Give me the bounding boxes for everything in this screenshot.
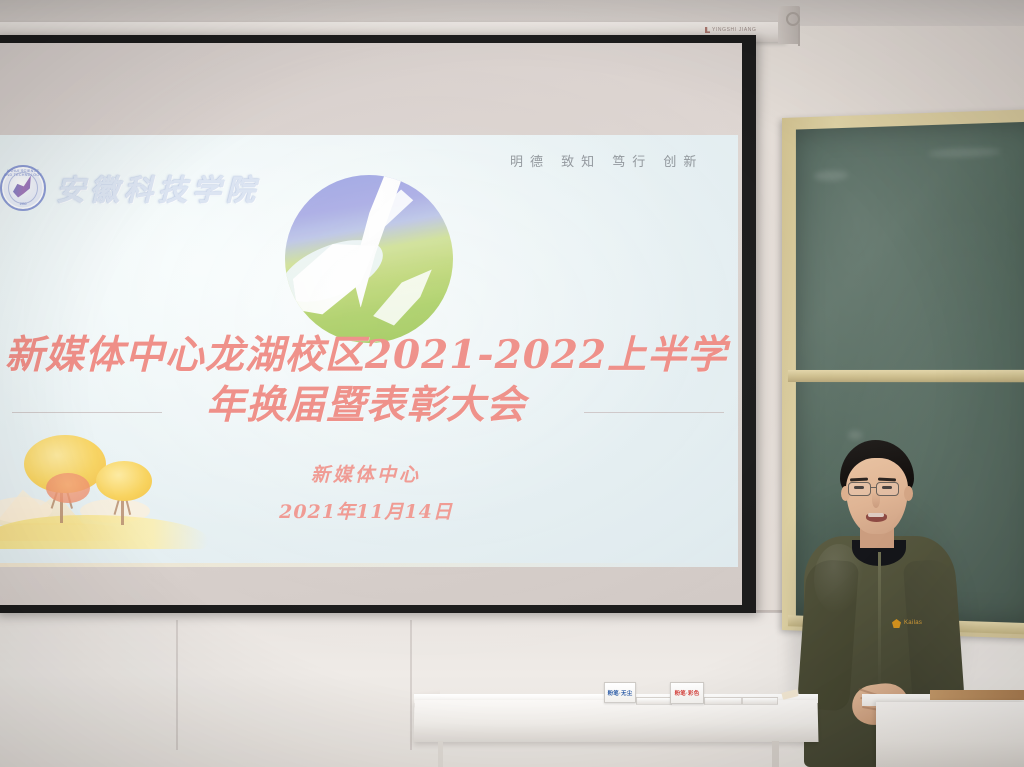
chalk-tray[interactable] bbox=[636, 697, 672, 705]
university-name: 安徽科技学院 bbox=[56, 167, 260, 209]
chalk-box-red[interactable]: 粉笔·彩色 bbox=[670, 682, 704, 704]
chalk-box-red-label: 粉笔·彩色 bbox=[675, 689, 700, 697]
screen-cord[interactable] bbox=[798, 24, 800, 46]
seal-arc-text: ANHUI SCIENCE AND TECHNOLOGY bbox=[2, 169, 44, 177]
housing-brand-label: YINGSHI JIANG bbox=[712, 27, 756, 33]
institution-emblem-icon bbox=[285, 175, 453, 343]
presenter-ear-right bbox=[904, 486, 913, 501]
projector-screen-frame: ANHUI SCIENCE AND TECHNOLOGY 1950 安徽科技学院… bbox=[0, 35, 756, 613]
presenter-arm-right bbox=[903, 558, 965, 711]
podium-leg bbox=[438, 741, 443, 767]
title-rule-right bbox=[584, 412, 724, 413]
chalk-box-blue-label: 粉笔·无尘 bbox=[608, 689, 633, 697]
presenter-nose bbox=[872, 492, 880, 508]
wall-panel-seam bbox=[176, 620, 178, 750]
glasses-icon bbox=[848, 482, 871, 496]
chalk-smudge bbox=[814, 170, 848, 181]
slide-bottom-band bbox=[0, 563, 738, 567]
chalk-tray[interactable] bbox=[742, 697, 778, 705]
tree-trunk bbox=[121, 497, 124, 525]
autumn-trees-illustration bbox=[0, 407, 218, 567]
chalk-tray[interactable] bbox=[704, 697, 742, 705]
wall-panel-seam bbox=[410, 620, 412, 750]
university-lockup: ANHUI SCIENCE AND TECHNOLOGY 1950 安徽科技学院 bbox=[0, 165, 260, 211]
cabinet-wood-trim bbox=[930, 690, 1024, 700]
university-motto: 明德 致知 笃行 创新 bbox=[510, 151, 703, 170]
podium-leg bbox=[772, 741, 779, 767]
jacket-brand-text: Kailas bbox=[904, 620, 922, 626]
brand-logo-icon bbox=[892, 619, 901, 628]
classroom-scene: YINGSHI JIANG ANHUI SCIENCE AND TECHNOLO… bbox=[0, 0, 1024, 767]
jacket-brand-badge: Kailas bbox=[892, 618, 932, 629]
university-seal-icon: ANHUI SCIENCE AND TECHNOLOGY 1950 bbox=[0, 165, 46, 211]
chalk-box-blue[interactable]: 粉笔·无尘 bbox=[604, 682, 636, 703]
tree-canopy bbox=[96, 461, 152, 501]
slide-title-line-1: 新媒体中心龙湖校区2021-2022上半学 bbox=[0, 331, 738, 381]
tree-canopy-accent bbox=[46, 473, 90, 503]
ground-shape bbox=[0, 515, 208, 549]
projector-screen-surface: ANHUI SCIENCE AND TECHNOLOGY 1950 安徽科技学院… bbox=[0, 43, 742, 605]
emblem-swoosh bbox=[370, 267, 441, 332]
blackboard-divider bbox=[788, 370, 1024, 382]
chalk-smudge bbox=[848, 431, 862, 440]
podium bbox=[414, 700, 819, 742]
chalk-smudge bbox=[928, 147, 1001, 157]
emblem-swoosh bbox=[289, 235, 412, 343]
seal-foot-text: 1950 bbox=[2, 202, 44, 206]
side-cabinet bbox=[876, 702, 1024, 767]
projected-slide: ANHUI SCIENCE AND TECHNOLOGY 1950 安徽科技学院… bbox=[0, 135, 738, 567]
presenter-teeth bbox=[868, 513, 884, 517]
glasses-bridge bbox=[871, 487, 876, 488]
